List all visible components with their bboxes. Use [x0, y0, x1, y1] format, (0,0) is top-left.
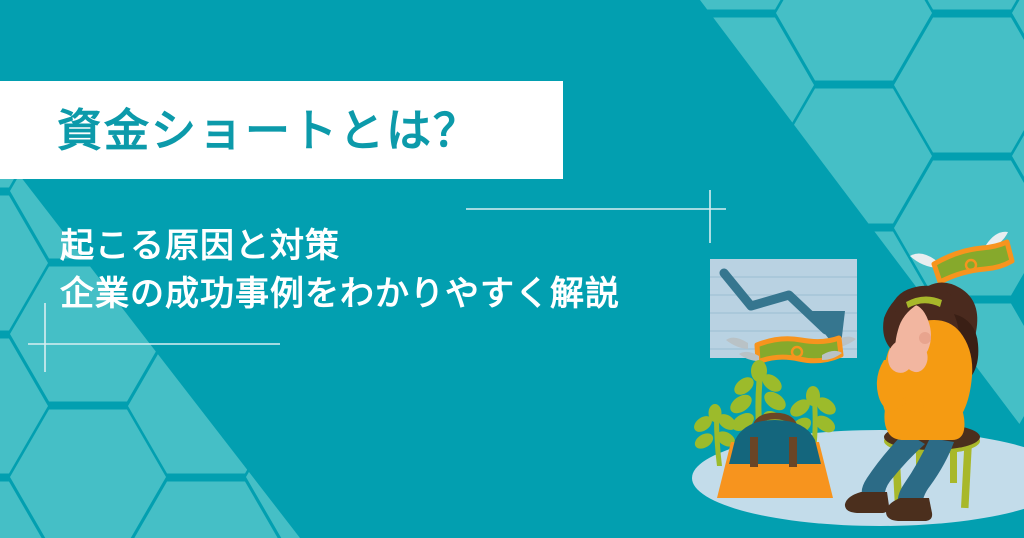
- subtitle-line-1: 起こる原因と対策: [60, 222, 720, 270]
- subtitle-block: 起こる原因と対策 企業の成功事例をわかりやすく解説: [60, 222, 720, 319]
- hero-banner: 資金ショートとは？ 起こる原因と対策 企業の成功事例をわかりやすく解説: [0, 0, 1024, 538]
- title-banner: 資金ショートとは？: [0, 81, 563, 179]
- page-title: 資金ショートとは？: [57, 108, 480, 153]
- flying-money-top-right: [910, 232, 1012, 282]
- subtitle-line-2: 企業の成功事例をわかりやすく解説: [60, 270, 720, 318]
